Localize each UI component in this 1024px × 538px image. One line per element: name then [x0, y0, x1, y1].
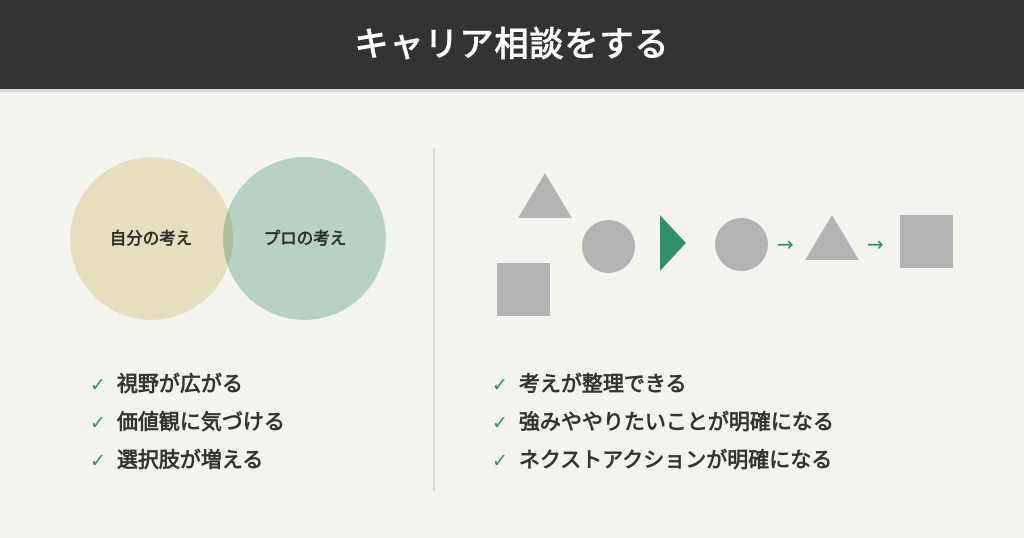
check-icon: ✓: [90, 414, 106, 433]
center-divider: [433, 148, 435, 491]
shapes-illustration: → →: [480, 150, 980, 330]
list-item: ✓ ネクストアクションが明確になる: [492, 449, 834, 473]
venn-label-own-thoughts: 自分の考え: [71, 230, 231, 250]
check-icon: ✓: [492, 452, 508, 471]
scattered-square-icon: [497, 263, 550, 316]
check-icon: ✓: [90, 376, 106, 395]
sequence-arrow-2-icon: →: [867, 234, 884, 254]
list-item-label: 強みややりたいことが明確になる: [519, 411, 834, 435]
header-underline: [0, 89, 1024, 92]
check-icon: ✓: [492, 376, 508, 395]
list-item: ✓ 価値観に気づける: [90, 411, 285, 435]
venn-diagram: 自分の考え プロの考え: [70, 157, 386, 321]
list-item: ✓ 強みややりたいことが明確になる: [492, 411, 834, 435]
list-item: ✓ 選択肢が増える: [90, 449, 285, 473]
list-item-label: 価値観に気づける: [117, 411, 285, 435]
slide-canvas: キャリア相談をする 自分の考え プロの考え → → ✓ 視野が広がる ✓ 価値観…: [0, 0, 1024, 538]
list-item-label: 視野が広がる: [117, 373, 243, 397]
scattered-triangle-icon: [518, 173, 572, 218]
ordered-square-icon: [900, 215, 953, 268]
left-benefits-list: ✓ 視野が広がる ✓ 価値観に気づける ✓ 選択肢が増える: [90, 373, 285, 487]
scattered-circle-icon: [582, 220, 635, 273]
page-title: キャリア相談をする: [355, 28, 670, 62]
list-item-label: 考えが整理できる: [519, 373, 687, 397]
list-item: ✓ 考えが整理できる: [492, 373, 834, 397]
check-icon: ✓: [492, 414, 508, 433]
list-item: ✓ 視野が広がる: [90, 373, 285, 397]
ordered-triangle-icon: [805, 215, 859, 260]
venn-label-pro-thoughts: プロの考え: [225, 230, 385, 250]
list-item-label: 選択肢が増える: [117, 449, 263, 473]
right-benefits-list: ✓ 考えが整理できる ✓ 強みややりたいことが明確になる ✓ ネクストアクション…: [492, 373, 834, 487]
play-triangle-icon: [660, 215, 686, 271]
header-bar: キャリア相談をする: [0, 0, 1024, 89]
sequence-arrow-1-icon: →: [777, 234, 794, 254]
ordered-circle-icon: [715, 218, 768, 271]
check-icon: ✓: [90, 452, 106, 471]
list-item-label: ネクストアクションが明確になる: [519, 449, 832, 473]
